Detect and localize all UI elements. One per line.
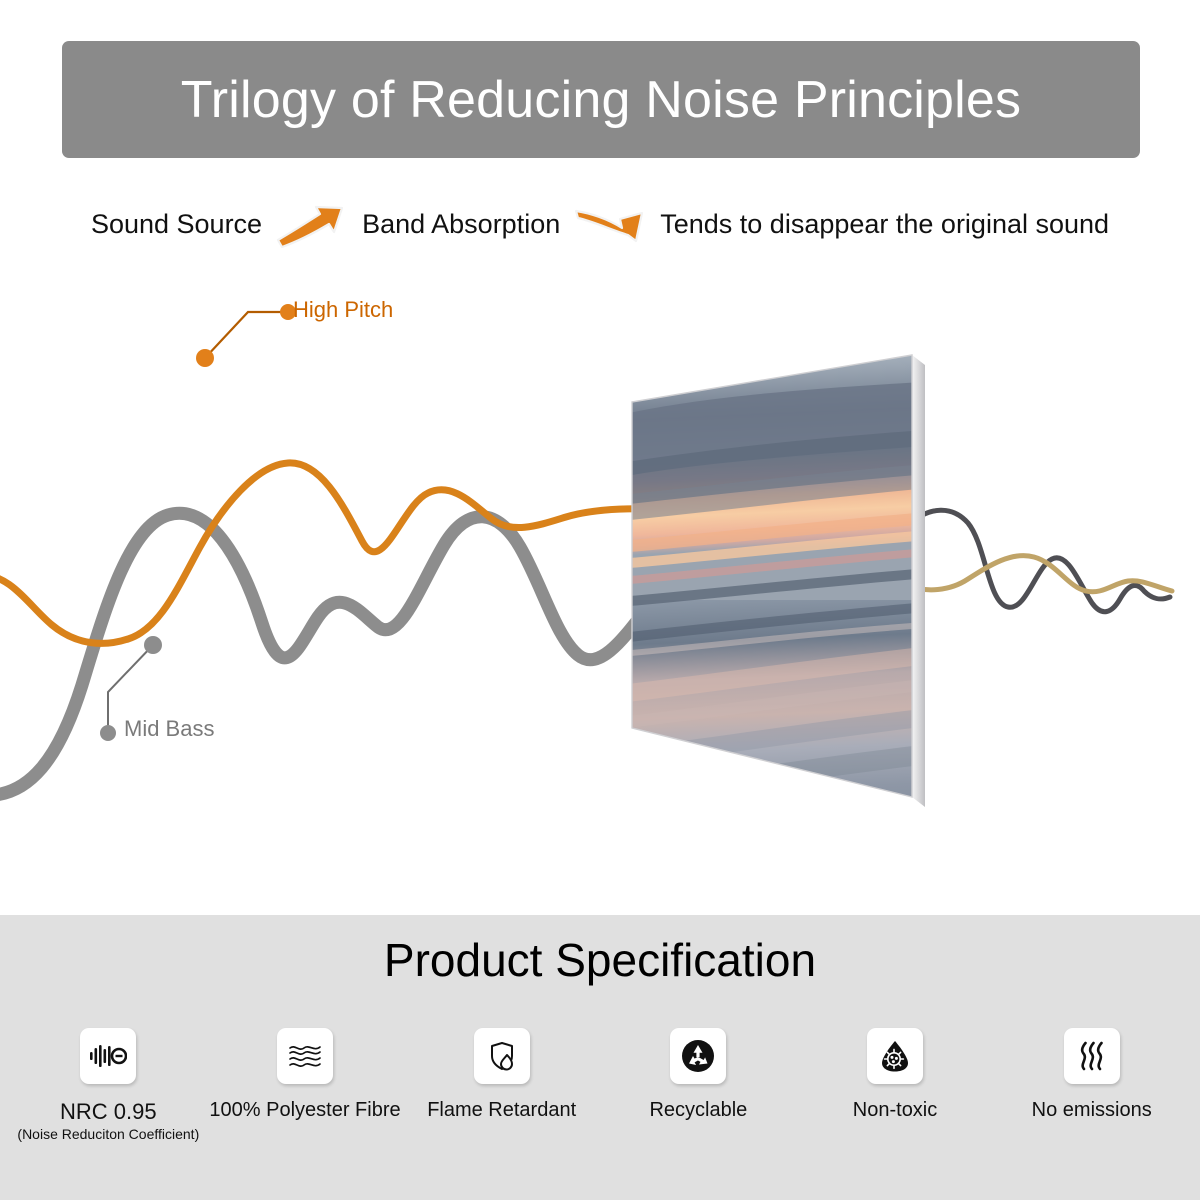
panel-artwork	[620, 345, 940, 845]
product-specification-section: Product Specification NRC 0.95 (	[0, 915, 1200, 1200]
no-emissions-smoke-icon	[1064, 1028, 1120, 1084]
spec-sublabel-nrc: (Noise Reduciton Coefficient)	[17, 1127, 199, 1142]
high-pitch-leader-line	[205, 312, 288, 358]
spec-label-recyclable: Recyclable	[649, 1099, 747, 1122]
callout-label-mid-bass: Mid Bass	[124, 718, 214, 740]
shield-flame-icon	[474, 1028, 530, 1084]
fibre-waves-icon	[277, 1028, 333, 1084]
spec-label-no-emissions: No emissions	[1032, 1099, 1152, 1122]
mid-bass-anchor-dot	[144, 636, 162, 654]
flow-step-label-sound-source: Sound Source	[91, 211, 262, 238]
title-banner: Trilogy of Reducing Noise Principles	[62, 41, 1140, 158]
spec-item-polyester-fibre: 100% Polyester Fibre	[207, 1028, 404, 1122]
spec-label-flame-retardant: Flame Retardant	[427, 1099, 576, 1122]
flow-step-label-disappear: Tends to disappear the original sound	[660, 211, 1109, 238]
mid-bass-label-dot	[100, 725, 116, 741]
spec-item-recyclable: Recyclable	[600, 1028, 797, 1122]
spec-label-polyester-fibre: 100% Polyester Fibre	[209, 1099, 400, 1122]
hero-section: Trilogy of Reducing Noise Principles Sou…	[0, 0, 1200, 915]
spec-label-non-toxic: Non-toxic	[853, 1099, 937, 1122]
process-flow-row: Sound Source Band Absorption Tends to di…	[0, 198, 1200, 250]
spec-item-nrc: NRC 0.95 (Noise Reduciton Coefficient)	[10, 1028, 207, 1143]
spec-section-title: Product Specification	[0, 937, 1200, 983]
panel-side-edge	[912, 355, 925, 807]
curved-arrow-down-right-icon	[574, 199, 646, 249]
callout-label-high-pitch: High Pitch	[293, 299, 393, 321]
spec-item-flame-retardant: Flame Retardant	[403, 1028, 600, 1122]
sound-wave-mute-icon	[80, 1028, 136, 1084]
flow-step-label-band-absorption: Band Absorption	[362, 211, 560, 238]
spec-item-non-toxic: Non-toxic	[797, 1028, 994, 1122]
spec-item-no-emissions: No emissions	[993, 1028, 1190, 1122]
page-title: Trilogy of Reducing Noise Principles	[181, 74, 1022, 126]
spec-label-nrc: NRC 0.95	[60, 1099, 157, 1124]
high-pitch-anchor-dot	[196, 349, 214, 367]
curved-arrow-up-right-icon	[276, 199, 348, 249]
acoustic-panel-beach-sunset	[620, 345, 940, 845]
non-toxic-droplet-icon	[867, 1028, 923, 1084]
recycle-icon	[670, 1028, 726, 1084]
spec-items-row: NRC 0.95 (Noise Reduciton Coefficient) 1…	[0, 1028, 1200, 1143]
acoustic-panel	[620, 345, 940, 845]
